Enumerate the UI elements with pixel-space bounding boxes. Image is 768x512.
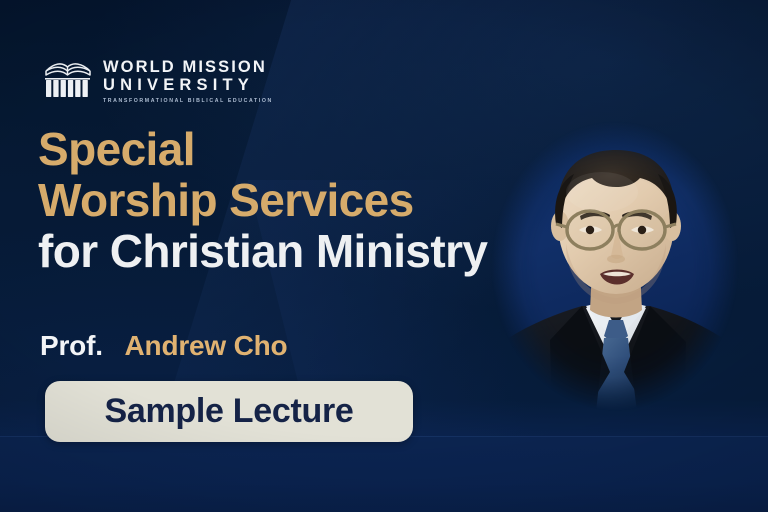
brand-line-1: WORLD MISSION xyxy=(103,59,273,76)
presenter-title: Prof. xyxy=(40,330,103,361)
presenter-portrait xyxy=(490,120,740,412)
lecture-thumbnail: WORLD MISSION UNIVERSITY TRANSFORMATIONA… xyxy=(0,0,768,512)
page-title: Special Worship Services for Christian M… xyxy=(38,124,518,276)
presenter-credit: Prof. Andrew Cho xyxy=(40,330,287,362)
presenter-name: Andrew Cho xyxy=(125,330,288,361)
title-line-3: for Christian Ministry xyxy=(38,226,518,277)
title-line-2: Worship Services xyxy=(38,175,518,226)
sample-lecture-badge-label: Sample Lecture xyxy=(104,392,353,431)
brand-line-2: UNIVERSITY xyxy=(103,76,273,95)
sample-lecture-badge[interactable]: Sample Lecture xyxy=(45,381,413,442)
brand-tagline: TRANSFORMATIONAL BIBLICAL EDUCATION xyxy=(103,98,273,104)
brand-wordmark: WORLD MISSION UNIVERSITY TRANSFORMATIONA… xyxy=(103,50,273,104)
background-bottom-band xyxy=(0,437,768,512)
title-line-1: Special xyxy=(38,124,518,175)
brand-logo: WORLD MISSION UNIVERSITY TRANSFORMATIONA… xyxy=(42,50,273,104)
open-book-with-pillars-icon xyxy=(42,51,94,103)
